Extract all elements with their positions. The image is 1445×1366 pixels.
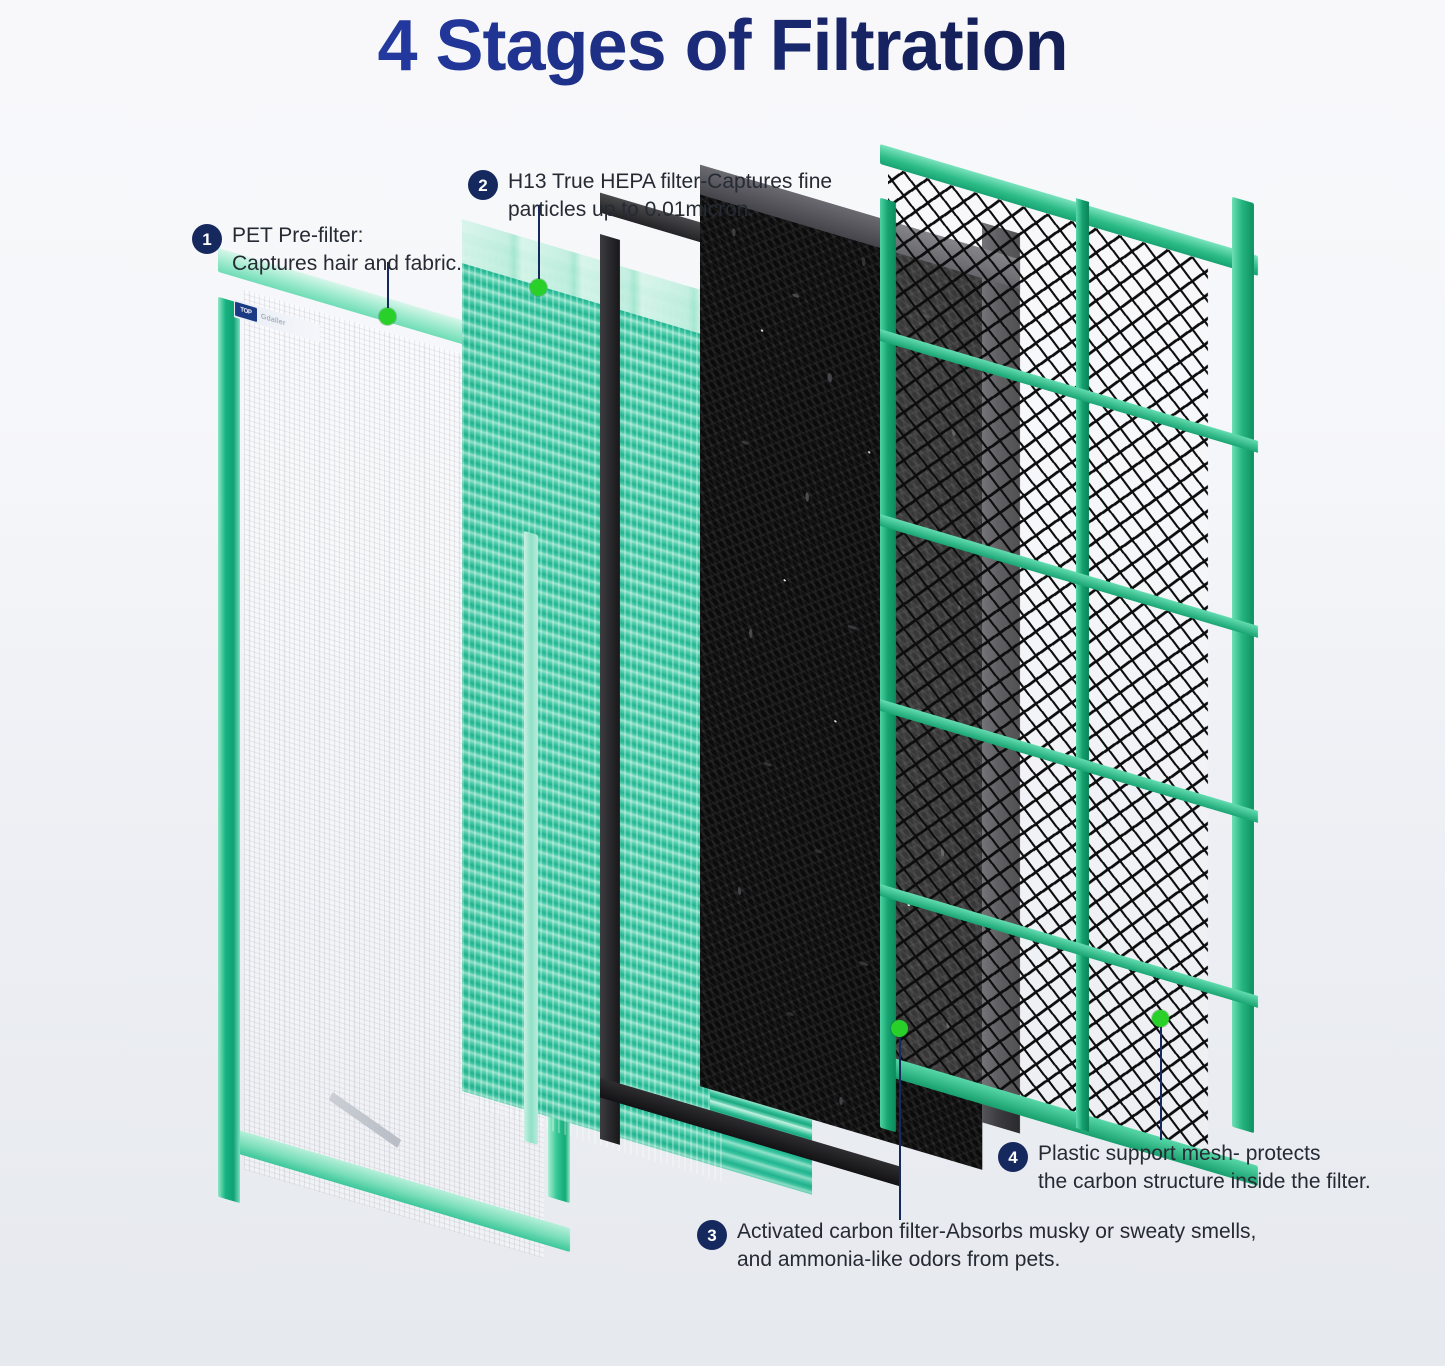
hepa-spacer-rib (524, 531, 538, 1145)
callout-text-4: Plastic support mesh- protects the carbo… (1038, 1140, 1371, 1195)
callout-pet-prefilter: 1 PET Pre-filter: Captures hair and fabr… (192, 222, 532, 277)
leader-dot-3 (891, 1020, 908, 1037)
callout-hepa-filter: 2 H13 True HEPA filter-Captures fine par… (468, 168, 888, 223)
callout-text-2: H13 True HEPA filter-Captures fine parti… (508, 168, 832, 223)
mesh-frame-vertical-rib (1076, 198, 1089, 1132)
leader-dot-2 (530, 279, 547, 296)
callout-text-3: Activated carbon filter-Absorbs musky or… (737, 1218, 1256, 1273)
callout-activated-carbon: 3 Activated carbon filter-Absorbs musky … (697, 1218, 1357, 1273)
leader-line-3 (899, 1030, 901, 1220)
callout-number-badge-3: 3 (697, 1220, 727, 1250)
layer-plastic-support-mesh (880, 200, 1258, 1160)
prefilter-frame-left (218, 297, 240, 1204)
leader-dot-1 (379, 308, 396, 325)
sticker-caption: Gdaller (261, 313, 286, 327)
leader-dot-4 (1152, 1010, 1169, 1027)
leader-line-4 (1160, 1020, 1162, 1140)
carbon-frame-left (600, 234, 620, 1145)
callout-number-badge-2: 2 (468, 170, 498, 200)
callout-number-badge-4: 4 (998, 1142, 1028, 1172)
callout-plastic-mesh: 4 Plastic support mesh- protects the car… (998, 1140, 1428, 1195)
callout-text-1: PET Pre-filter: Captures hair and fabric… (232, 222, 462, 277)
callout-number-badge-1: 1 (192, 224, 222, 254)
